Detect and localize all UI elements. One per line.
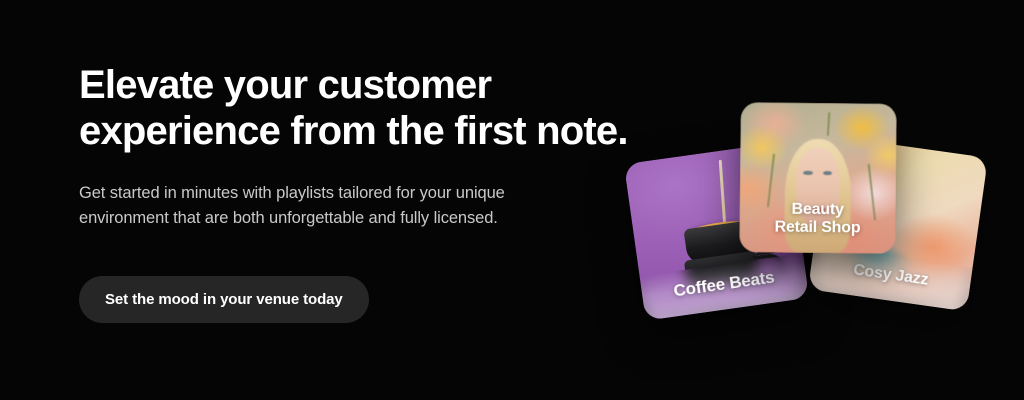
portrait-eye-right — [823, 171, 832, 176]
flower-stem — [827, 112, 831, 136]
playlist-card-cluster: Coffee Beats Beauty Retail Shop Cosy Jaz… — [620, 80, 1000, 330]
hero-banner: Elevate your customer experience from th… — [0, 0, 1024, 400]
playlist-card-beauty-retail-shop[interactable]: Beauty Retail Shop — [739, 102, 897, 254]
set-the-mood-cta-button[interactable]: Set the mood in your venue today — [79, 276, 369, 323]
portrait-eye-left — [803, 170, 812, 175]
hero-copy-block: Elevate your customer experience from th… — [79, 62, 639, 232]
page-title: Elevate your customer experience from th… — [79, 62, 639, 155]
playlist-card-label: Beauty Retail Shop — [739, 190, 896, 253]
hero-subcopy: Get started in minutes with playlists ta… — [79, 155, 589, 232]
